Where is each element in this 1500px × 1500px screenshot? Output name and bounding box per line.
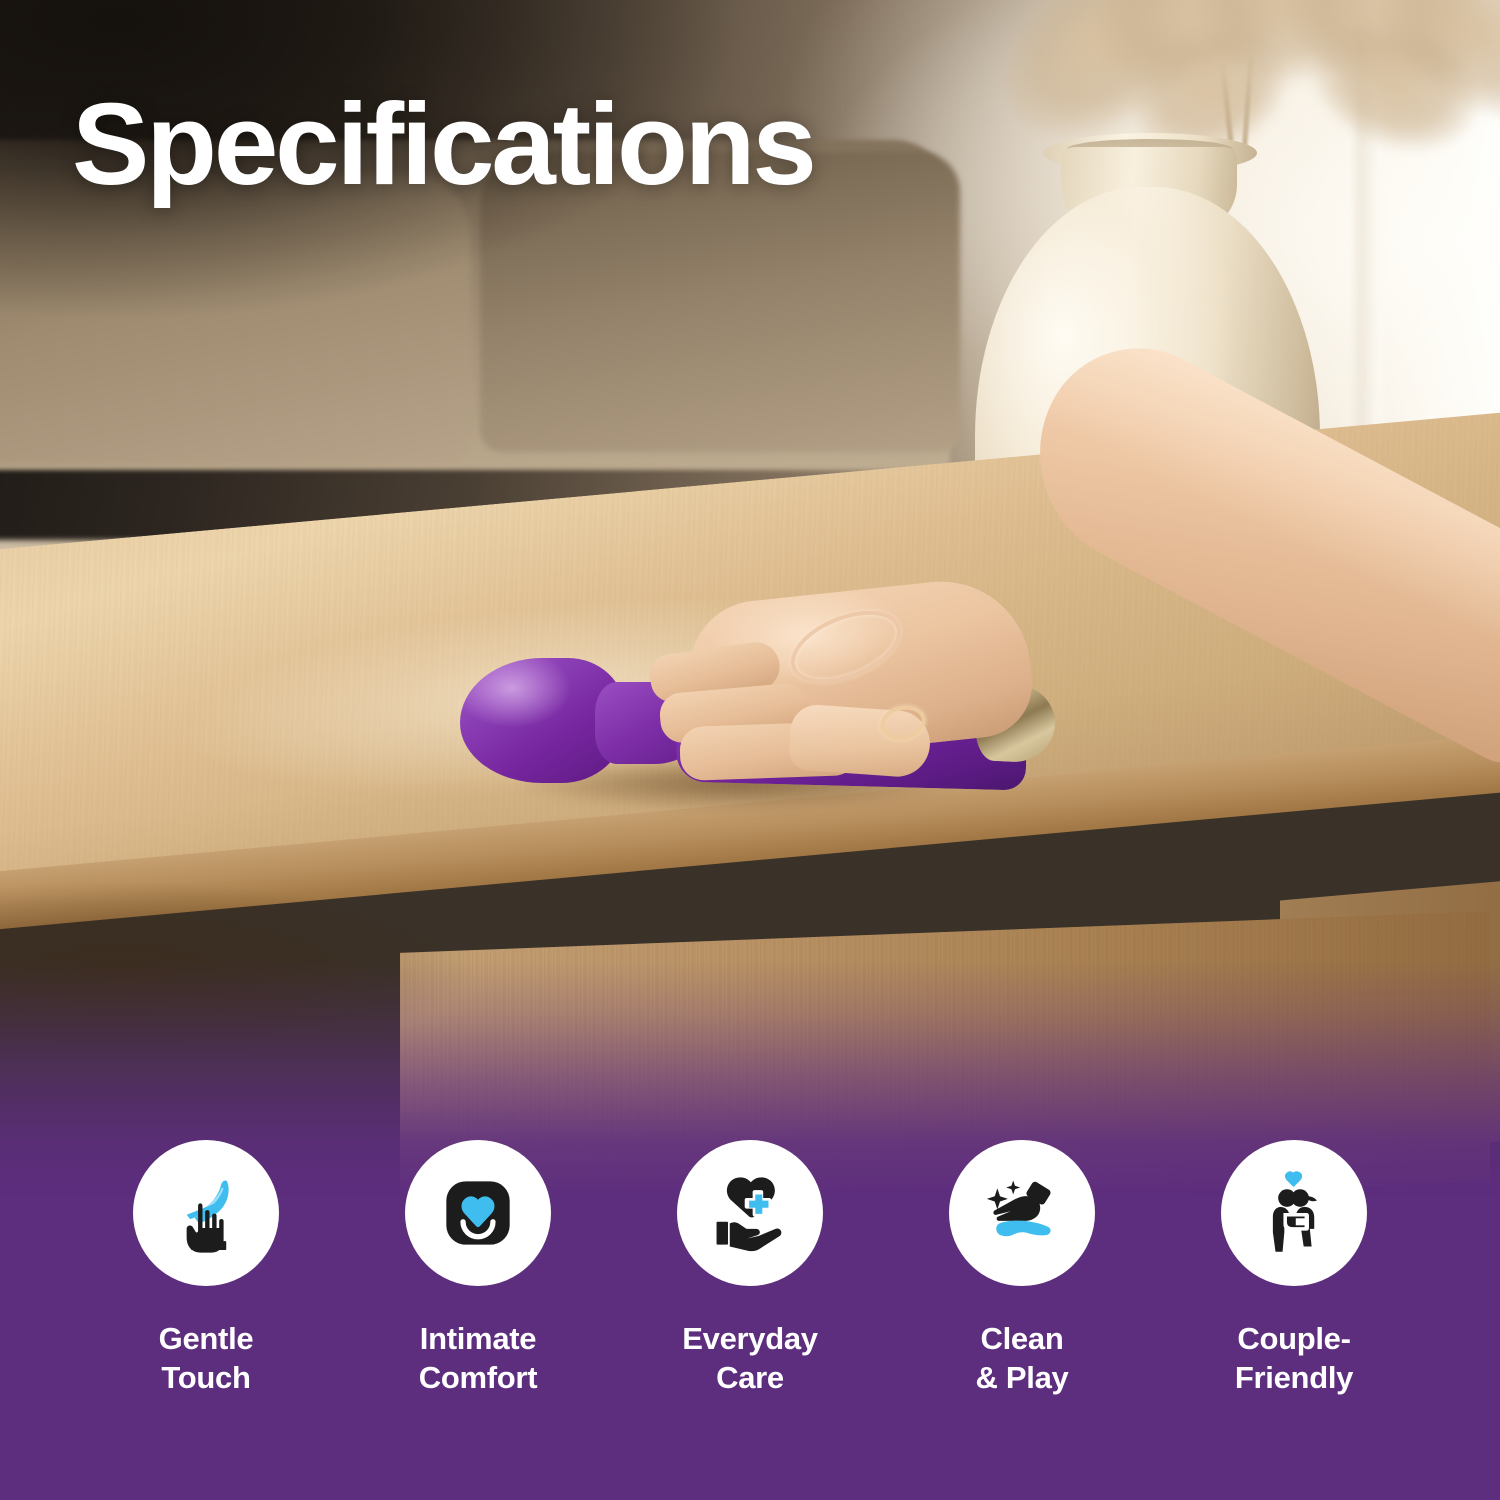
forearm [1000, 315, 1500, 782]
feature-item-everyday-care[interactable]: Everyday Care [671, 1140, 829, 1398]
feature-item-clean-play[interactable]: Clean & Play [943, 1140, 1101, 1398]
feature-label: Intimate Comfort [419, 1320, 537, 1398]
feature-label: Clean & Play [976, 1320, 1069, 1398]
model-arm [780, 300, 1500, 770]
couple-heart-icon [1250, 1169, 1338, 1257]
feature-label: Couple- Friendly [1235, 1320, 1353, 1398]
feature-badge [1221, 1140, 1367, 1286]
heart-smile-app-icon [434, 1169, 522, 1257]
feature-item-intimate-comfort[interactable]: Intimate Comfort [399, 1140, 557, 1398]
product-specifications-banner: Specifications Gentle Touch [0, 0, 1500, 1500]
feather-touch-icon [162, 1169, 250, 1257]
floor-shadow [0, 880, 780, 1120]
feature-item-gentle-touch[interactable]: Gentle Touch [127, 1140, 285, 1398]
feature-badge [677, 1140, 823, 1286]
feature-badge [949, 1140, 1095, 1286]
feature-list: Gentle Touch Intimate Comfort [0, 1140, 1500, 1398]
hand-heart-plus-icon [706, 1169, 794, 1257]
page-title: Specifications [72, 84, 814, 205]
feature-item-couple-friendly[interactable]: Couple- Friendly [1215, 1140, 1373, 1398]
feature-badge [133, 1140, 279, 1286]
hand-sponge-water-icon [978, 1169, 1066, 1257]
feature-label: Everyday Care [682, 1320, 817, 1398]
feature-badge [405, 1140, 551, 1286]
feature-label: Gentle Touch [159, 1320, 254, 1398]
